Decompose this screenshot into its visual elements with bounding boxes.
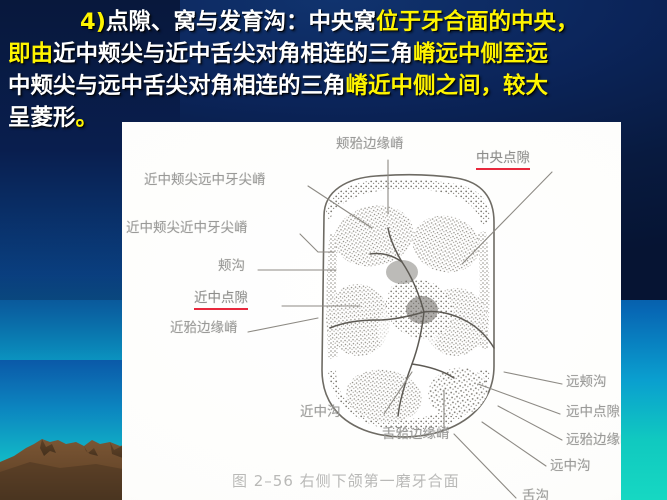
- figure-panel: 颊𬌗边缘嵴 中央点隙 近中颊尖远中牙尖嵴 近中颊尖近中牙尖嵴 颊沟 近中点隙 近…: [122, 122, 621, 500]
- label-central-pit: 中央点隙: [476, 150, 530, 170]
- title-seg-2c: 嵴远中侧至远: [413, 41, 548, 67]
- label-mesiobuccal-cusp-distal-ridge: 近中颊尖远中牙尖嵴: [144, 172, 266, 188]
- title-seg-3b: 嵴近中侧之间，较大: [346, 73, 549, 99]
- label-lingual-groove: 舌沟: [522, 488, 549, 500]
- title-marker: 4): [80, 9, 106, 35]
- label-buccal-groove: 颊沟: [218, 258, 245, 274]
- label-distal-groove: 远中沟: [550, 458, 591, 474]
- title-line-3: 中颊尖与远中舌尖对角相连的三角嵴近中侧之间，较大: [8, 70, 664, 102]
- slide-title-text: 4)点隙、窝与发育沟：中央窝位于牙合面的中央， 即由近中颊尖与近中舌尖对角相连的…: [8, 6, 664, 134]
- title-seg-2b: 近中颊尖与近中舌尖对角相连的三角: [53, 41, 413, 67]
- label-linguo-occlusal-marginal-ridge: 舌𬌗边缘嵴: [382, 426, 450, 442]
- title-line-1: 4)点隙、窝与发育沟：中央窝位于牙合面的中央，: [8, 6, 664, 38]
- label-mesiobuccal-cusp-mesial-ridge: 近中颊尖近中牙尖嵴: [126, 220, 248, 236]
- figure-canvas: 颊𬌗边缘嵴 中央点隙 近中颊尖远中牙尖嵴 近中颊尖近中牙尖嵴 颊沟 近中点隙 近…: [122, 122, 621, 500]
- title-seg-3a: 中颊尖与远中舌尖对角相连的三角: [8, 73, 346, 99]
- title-seg-2a: 即由: [8, 41, 53, 67]
- title-seg-1c: 中央窝: [308, 9, 376, 35]
- title-seg-4a: 呈菱形: [8, 105, 76, 131]
- label-distal-pit: 远中点隙: [566, 404, 620, 420]
- figure-caption: 图 2–56 右侧下颌第一磨牙合面: [232, 470, 460, 491]
- label-distal-occlusal-marginal-ridge: 远𬌗边缘嵴: [566, 432, 621, 448]
- label-mesial-occlusal-marginal-ridge: 近𬌗边缘嵴: [170, 320, 238, 336]
- label-mesial-pit: 近中点隙: [194, 290, 248, 310]
- label-distobuccal-groove: 远颊沟: [566, 374, 607, 390]
- title-seg-4b: 。: [76, 105, 99, 131]
- title-seg-1d: 位于牙合面的中央，: [376, 9, 579, 35]
- label-buccal-occlusal-marginal-ridge: 颊𬌗边缘嵴: [336, 136, 404, 152]
- presentation-slide: 4)点隙、窝与发育沟：中央窝位于牙合面的中央， 即由近中颊尖与近中舌尖对角相连的…: [0, 0, 667, 500]
- title-line-2: 即由近中颊尖与近中舌尖对角相连的三角嵴远中侧至远: [8, 38, 664, 70]
- mountain-silhouette-icon: [0, 420, 128, 500]
- label-mesial-groove: 近中沟: [300, 404, 341, 420]
- title-seg-1b: 点隙、窝与发育沟：: [106, 9, 309, 35]
